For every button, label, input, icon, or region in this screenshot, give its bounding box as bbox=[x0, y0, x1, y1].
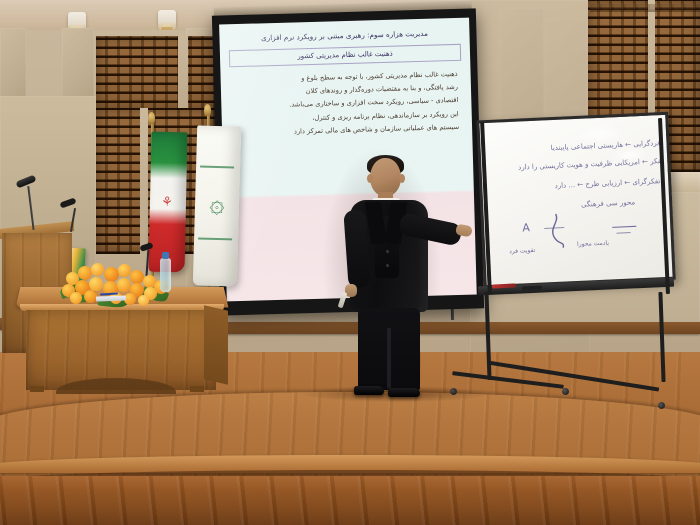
iran-emblem-icon: ⚘ bbox=[160, 194, 174, 209]
caption-wood-strip: www.guilan.ac.ir ۲۴ اردیبهشت ۱۳۸۷ – تالا… bbox=[0, 476, 700, 525]
rose bbox=[89, 277, 103, 291]
flag-stripe bbox=[200, 166, 234, 169]
speaker-head bbox=[370, 158, 401, 196]
bottle-cap bbox=[162, 252, 169, 259]
flag-stripe bbox=[198, 237, 232, 240]
whiteboard-underline-icon bbox=[610, 218, 645, 246]
whiteboard-letter-a: A bbox=[522, 221, 530, 234]
rose bbox=[104, 267, 119, 282]
university-flag: ۞ bbox=[193, 125, 241, 286]
flag-finial-icon bbox=[204, 104, 211, 116]
panel-divider bbox=[140, 108, 148, 254]
whiteboard-line: تقویت فرد bbox=[509, 247, 535, 255]
rose bbox=[130, 270, 144, 284]
whiteboard-line: یادمت محورا bbox=[577, 240, 609, 248]
whiteboard-line: تفکرگرای ← ارزیابی طرح ← ... دارد bbox=[554, 177, 660, 190]
speaker-shoe-right bbox=[388, 388, 420, 397]
speaker-left-hand bbox=[345, 284, 357, 297]
speaker-ear bbox=[399, 174, 405, 183]
speaker-shoe-left bbox=[354, 386, 384, 395]
ceiling-downlight bbox=[158, 10, 176, 30]
stone-panel bbox=[0, 28, 26, 102]
flag-finial-icon bbox=[148, 112, 155, 124]
rose bbox=[118, 264, 131, 277]
whiteboard-assembly: فردگرایی ← هاریستی اجتماعی پایبندیا تفکر… bbox=[480, 116, 680, 406]
whiteboard-caster bbox=[562, 388, 569, 395]
speaker-ear bbox=[367, 174, 373, 183]
rose bbox=[117, 278, 131, 292]
trouser-seam bbox=[387, 328, 391, 388]
stone-panel bbox=[62, 28, 94, 104]
slide-subtitle-box: ذهنیت غالب نظام مدیریتی کشور bbox=[229, 44, 461, 68]
desk-side-panel bbox=[204, 305, 228, 385]
panel-edge bbox=[590, 4, 700, 12]
whiteboard-surface: فردگرایی ← هاریستی اجتماعی پایبندیا تفکر… bbox=[476, 112, 675, 289]
whiteboard-foot-bar-right bbox=[487, 360, 659, 391]
whiteboard-sketch-icon bbox=[538, 211, 580, 253]
vest-button bbox=[386, 250, 389, 253]
slide-body: ذهنیت غالب نظام مدیریتی کشور، با توجه به… bbox=[230, 68, 464, 140]
rose bbox=[70, 292, 82, 304]
marker-pen-in-hand bbox=[338, 292, 348, 309]
panel-divider bbox=[178, 36, 188, 112]
lecture-hall-photo: مدیریت هزاره سوم: رهبری مبتنی بر رویکرد … bbox=[0, 0, 700, 525]
vest-button bbox=[386, 264, 389, 267]
rose bbox=[78, 266, 92, 280]
whiteboard-caster bbox=[658, 402, 665, 409]
rose bbox=[91, 263, 104, 276]
desk-foot bbox=[190, 386, 204, 392]
rose bbox=[138, 295, 149, 306]
whiteboard-line: محور سی فرهنگی bbox=[581, 198, 635, 208]
iran-national-flag: ⚘ bbox=[149, 132, 188, 273]
speaker bbox=[330, 158, 460, 398]
papers-on-desk bbox=[96, 295, 126, 301]
whiteboard-post-right bbox=[658, 292, 665, 382]
whiteboard-writing: فردگرایی ← هاریستی اجتماعی پایبندیا تفکر… bbox=[479, 115, 672, 285]
desk-foot bbox=[30, 386, 44, 392]
water-bottle bbox=[160, 258, 171, 292]
university-emblem-icon: ۞ bbox=[202, 178, 231, 231]
whiteboard-post-left bbox=[484, 292, 491, 380]
